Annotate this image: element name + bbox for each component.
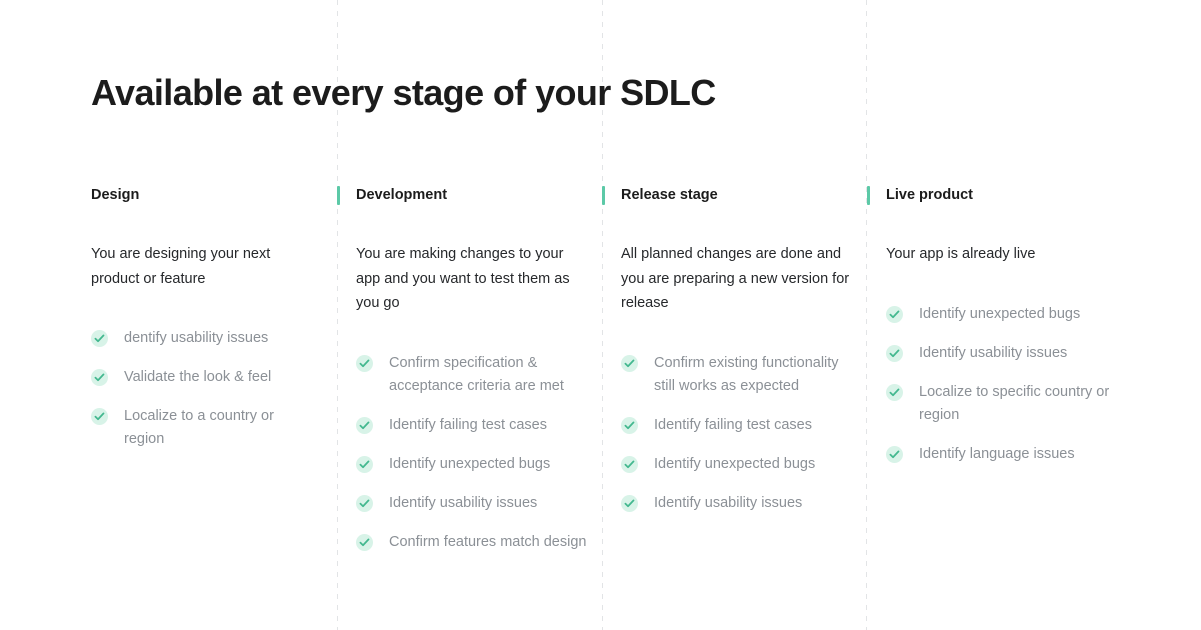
list-item: dentify usability issues [91, 327, 306, 350]
stage-header-design: Design [91, 186, 306, 214]
stage-title-release: Release stage [621, 187, 718, 203]
list-item-label: Identify failing test cases [654, 417, 812, 433]
page-title: Available at every stage of your SDLC [91, 70, 716, 116]
list-item-label: Confirm specification & acceptance crite… [389, 355, 564, 394]
check-circle-icon [91, 330, 108, 347]
check-circle-icon [621, 355, 638, 372]
list-item: Identify failing test cases [621, 414, 853, 437]
accent-bar-development [337, 186, 340, 205]
stage-checklist-live-product: Identify unexpected bugs Identify usabil… [886, 303, 1121, 466]
check-circle-icon [356, 417, 373, 434]
list-item: Confirm specification & acceptance crite… [356, 352, 588, 398]
list-item-label: Identify failing test cases [389, 417, 547, 433]
check-circle-icon [886, 306, 903, 323]
list-item: Confirm existing functionality still wor… [621, 352, 853, 398]
list-item-label: Identify usability issues [389, 495, 537, 511]
stage-checklist-release: Confirm existing functionality still wor… [621, 352, 853, 515]
check-circle-icon [356, 456, 373, 473]
list-item-label: dentify usability issues [124, 330, 268, 346]
list-item: Validate the look & feel [91, 366, 306, 389]
list-item: Identify usability issues [356, 492, 588, 515]
list-item-label: Confirm existing functionality still wor… [654, 355, 839, 394]
sdlc-stages-page: Available at every stage of your SDLC De… [0, 0, 1201, 630]
column-divider-3 [866, 0, 867, 630]
list-item-label: Identify usability issues [919, 345, 1067, 361]
stage-title-design: Design [91, 187, 139, 203]
stage-checklist-development: Confirm specification & acceptance crite… [356, 352, 588, 554]
list-item-label: Identify usability issues [654, 495, 802, 511]
accent-bar-release [602, 186, 605, 205]
check-circle-icon [886, 345, 903, 362]
stage-column-live-product: Live product Your app is already live Id… [886, 186, 1121, 466]
stage-description-design: You are designing your next product or f… [91, 242, 306, 291]
stage-checklist-design: dentify usability issues Validate the lo… [91, 327, 306, 451]
list-item-label: Validate the look & feel [124, 369, 271, 385]
check-circle-icon [886, 446, 903, 463]
list-item-label: Confirm features match design [389, 534, 586, 550]
stage-header-development: Development [356, 186, 588, 214]
list-item-label: Localize to specific country or region [919, 384, 1109, 423]
list-item-label: Identify unexpected bugs [389, 456, 550, 472]
check-circle-icon [886, 384, 903, 401]
list-item: Identify usability issues [621, 492, 853, 515]
stage-title-development: Development [356, 187, 447, 203]
stage-column-development: Development You are making changes to yo… [356, 186, 588, 554]
check-circle-icon [621, 417, 638, 434]
accent-bar-live-product [867, 186, 870, 205]
stage-header-live-product: Live product [886, 186, 1121, 214]
stage-description-release: All planned changes are done and you are… [621, 242, 853, 316]
stage-header-release: Release stage [621, 186, 853, 214]
list-item-label: Identify unexpected bugs [654, 456, 815, 472]
list-item: Localize to a country or region [91, 405, 306, 451]
check-circle-icon [91, 369, 108, 386]
list-item: Identify language issues [886, 443, 1121, 466]
check-circle-icon [91, 408, 108, 425]
list-item: Identify unexpected bugs [621, 453, 853, 476]
stage-description-development: You are making changes to your app and y… [356, 242, 588, 316]
list-item: Identify unexpected bugs [356, 453, 588, 476]
list-item: Confirm features match design [356, 531, 588, 554]
stage-column-design: Design You are designing your next produ… [91, 186, 306, 451]
check-circle-icon [356, 534, 373, 551]
list-item-label: Localize to a country or region [124, 408, 274, 447]
stage-column-release: Release stage All planned changes are do… [621, 186, 853, 515]
list-item: Identify usability issues [886, 342, 1121, 365]
list-item: Localize to specific country or region [886, 381, 1121, 427]
check-circle-icon [621, 456, 638, 473]
stage-title-live-product: Live product [886, 187, 973, 203]
list-item: Identify failing test cases [356, 414, 588, 437]
stage-description-live-product: Your app is already live [886, 242, 1121, 267]
check-circle-icon [356, 355, 373, 372]
check-circle-icon [356, 495, 373, 512]
check-circle-icon [621, 495, 638, 512]
list-item-label: Identify language issues [919, 446, 1075, 462]
list-item-label: Identify unexpected bugs [919, 306, 1080, 322]
list-item: Identify unexpected bugs [886, 303, 1121, 326]
